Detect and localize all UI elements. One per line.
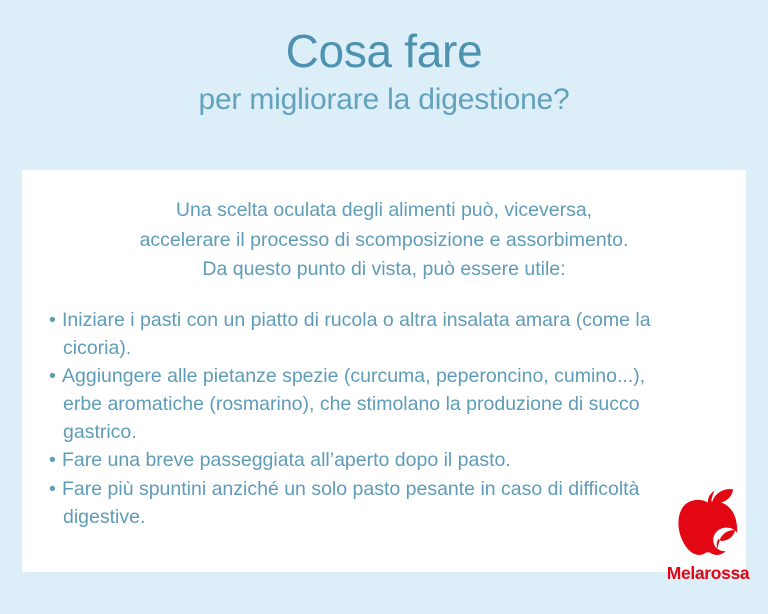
- intro-paragraph: Una scelta oculata degli alimenti può, v…: [22, 170, 746, 285]
- bullet-icon: •: [50, 363, 56, 391]
- list-item-text: Iniziare i pasti con un piatto di rucola…: [63, 307, 671, 362]
- page-title: Cosa fare: [0, 0, 768, 77]
- bullet-icon: •: [50, 307, 56, 335]
- content-card: Una scelta oculata degli alimenti può, v…: [22, 170, 746, 572]
- red-apple-icon: [675, 488, 741, 558]
- bullet-icon: •: [50, 447, 56, 475]
- list-item: • Aggiungere alle pietanze spezie (curcu…: [50, 363, 671, 446]
- infographic-page: { "header": { "title": "Cosa fare", "sub…: [0, 0, 768, 614]
- header: Cosa fare per migliorare la digestione?: [0, 0, 768, 170]
- intro-line: Da questo punto di vista, può essere uti…: [80, 255, 688, 285]
- brand-logo: Melarossa: [663, 488, 753, 598]
- list-item: • Iniziare i pasti con un piatto di ruco…: [50, 307, 671, 362]
- page-subtitle: per migliorare la digestione?: [0, 77, 768, 117]
- list-item: • Fare più spuntini anziché un solo past…: [50, 476, 671, 531]
- intro-line: Una scelta oculata degli alimenti può, v…: [80, 196, 688, 226]
- list-item-text: Fare più spuntini anziché un solo pasto …: [63, 476, 671, 531]
- list-item-text: Aggiungere alle pietanze spezie (curcuma…: [63, 363, 671, 446]
- list-item: • Fare una breve passeggiata all’aperto …: [50, 447, 671, 475]
- bullet-icon: •: [50, 476, 56, 504]
- intro-line: accelerare il processo di scomposizione …: [80, 226, 688, 256]
- tips-list: • Iniziare i pasti con un piatto di ruco…: [22, 285, 746, 532]
- brand-wordmark: Melarossa: [663, 563, 753, 584]
- list-item-text: Fare una breve passeggiata all’aperto do…: [63, 447, 671, 475]
